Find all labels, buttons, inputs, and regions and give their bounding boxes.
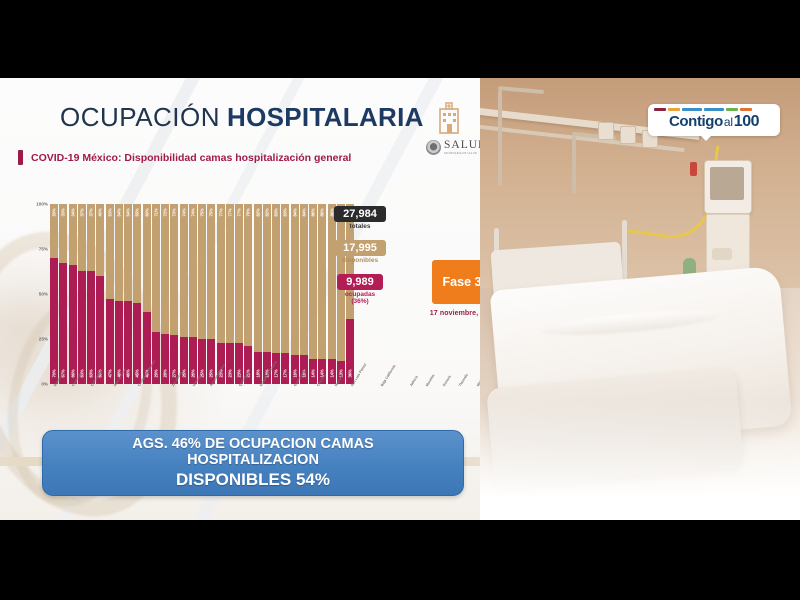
bar-column[interactable]: 82%18% bbox=[263, 204, 271, 384]
bar-value-label-disponibilidad: 73% bbox=[172, 208, 177, 216]
title-bold: HOSPITALARIA bbox=[227, 102, 424, 133]
phase-date: 17 noviembre, 2020 bbox=[426, 310, 480, 317]
bar-value-label-ocupacion: 63% bbox=[89, 369, 94, 377]
bar-segment-disponibilidad: 60% bbox=[143, 204, 151, 312]
bar-value-label-disponibilidad: 79% bbox=[246, 208, 251, 216]
bar-segment-disponibilidad: 71% bbox=[152, 204, 160, 332]
bar-value-label-disponibilidad: 83% bbox=[274, 208, 279, 216]
photo-wall-outlet-2 bbox=[620, 126, 636, 144]
bar-segment-disponibilidad: 84% bbox=[291, 204, 299, 355]
bar-value-label-ocupacion: 36% bbox=[348, 369, 353, 377]
page-title: OCUPACIÓN HOSPITALARIA bbox=[60, 100, 464, 134]
banner-line-2: HOSPITALIZACION bbox=[187, 452, 319, 468]
bar-column[interactable]: 60%40% bbox=[143, 204, 151, 384]
national-seal-icon bbox=[426, 140, 441, 155]
logo-stripe bbox=[668, 108, 680, 111]
logo-stripe bbox=[740, 108, 752, 111]
bar-column[interactable]: 33%67% bbox=[59, 204, 67, 384]
content-band: OCUPACIÓN HOSPITALARIA bbox=[0, 78, 800, 520]
slide-panel: OCUPACIÓN HOSPITALARIA bbox=[0, 78, 480, 520]
callout-caption: disponibles bbox=[318, 257, 402, 265]
bar-value-label-disponibilidad: 37% bbox=[89, 208, 94, 216]
callout-box: 9,989ocupadas (36%) bbox=[318, 272, 402, 307]
logo-text: Contigo al 100 bbox=[654, 113, 774, 131]
logo-part-1: Contigo bbox=[669, 113, 723, 130]
bar-segment-disponibilidad: 73% bbox=[170, 204, 178, 335]
hospital-building-icon bbox=[434, 100, 464, 134]
bar-value-label-disponibilidad: 33% bbox=[61, 208, 66, 216]
bar-segment-disponibilidad: 79% bbox=[244, 204, 252, 346]
bar-value-label-disponibilidad: 74% bbox=[190, 208, 195, 216]
logo-stripe bbox=[726, 108, 738, 111]
bar-value-label-disponibilidad: 34% bbox=[70, 208, 75, 216]
chart-subtitle-wrap: COVID-19 México: Disponibilidad camas ho… bbox=[18, 150, 378, 165]
bar-value-label-ocupacion: 26% bbox=[190, 369, 195, 377]
bar-segment-disponibilidad: 55% bbox=[133, 204, 141, 303]
bar-segment-disponibilidad: 77% bbox=[226, 204, 234, 343]
bar-value-label-disponibilidad: 71% bbox=[153, 208, 158, 216]
x-axis-labels: DurangoCoahuilaChihuahuaNuevo LeónCiudad… bbox=[50, 385, 354, 415]
bar-column[interactable]: 74%26% bbox=[189, 204, 197, 384]
bar-value-label-disponibilidad: 55% bbox=[135, 208, 140, 216]
callout-box: 27,984totales bbox=[318, 204, 402, 231]
bar-value-label-disponibilidad: 82% bbox=[264, 208, 269, 216]
bar-segment-disponibilidad: 82% bbox=[254, 204, 262, 352]
bar-segment-disponibilidad: 33% bbox=[59, 204, 67, 263]
bar-value-label-disponibilidad: 54% bbox=[116, 208, 121, 216]
bar-value-label-disponibilidad: 84% bbox=[292, 208, 297, 216]
bar-segment-ocupacion: 63% bbox=[78, 271, 86, 384]
bar-value-label-disponibilidad: 82% bbox=[255, 208, 260, 216]
bar-segment-disponibilidad: 54% bbox=[124, 204, 132, 301]
bar-segment-disponibilidad: 37% bbox=[78, 204, 86, 271]
bar-value-label-disponibilidad: 54% bbox=[126, 208, 131, 216]
bar-value-label-disponibilidad: 83% bbox=[283, 208, 288, 216]
bar-segment-disponibilidad: 83% bbox=[281, 204, 289, 353]
bar-segment-disponibilidad: 74% bbox=[189, 204, 197, 337]
callout-value: 27,984 bbox=[334, 206, 386, 222]
bar-segment-disponibilidad: 30% bbox=[50, 204, 58, 258]
bar-segment-disponibilidad: 53% bbox=[106, 204, 114, 299]
callout-caption: totales bbox=[318, 223, 402, 231]
logo-part-2: al bbox=[724, 115, 733, 129]
logo-part-3: 100 bbox=[734, 113, 759, 131]
bar-segment-ocupacion: 63% bbox=[87, 271, 95, 384]
bar-column[interactable]: 71%29% bbox=[152, 204, 160, 384]
salud-name: SALUD bbox=[444, 140, 480, 152]
bar-segment-disponibilidad: 74% bbox=[180, 204, 188, 337]
chart-subtitle: COVID-19 México: Disponibilidad camas ho… bbox=[31, 150, 351, 165]
y-tick-label: 50% bbox=[39, 292, 48, 297]
bar-value-label-disponibilidad: 60% bbox=[144, 208, 149, 216]
bar-column[interactable]: 30%70% bbox=[50, 204, 58, 384]
bar-value-label-disponibilidad: 72% bbox=[163, 208, 168, 216]
bar-value-label-ocupacion: 66% bbox=[70, 369, 75, 377]
bar-column[interactable]: 75%25% bbox=[207, 204, 215, 384]
banner-line-1: AGS. 46% DE OCUPACION CAMAS bbox=[132, 436, 373, 452]
screen: OCUPACIÓN HOSPITALARIA bbox=[0, 0, 800, 600]
bar-value-label-disponibilidad: 30% bbox=[52, 208, 57, 216]
bar-segment-ocupacion: 36% bbox=[346, 319, 354, 384]
callout-value: 17,995 bbox=[334, 240, 386, 256]
bar-segment-ocupacion: 66% bbox=[69, 265, 77, 384]
photo-bottom-fade bbox=[480, 400, 800, 520]
logo-stripe bbox=[704, 108, 724, 111]
phase-badge: Fase 3 bbox=[432, 260, 480, 304]
bar-segment-ocupacion: 67% bbox=[59, 263, 67, 384]
bar-column[interactable]: 40%60% bbox=[96, 204, 104, 384]
bar-column[interactable]: 79%21% bbox=[244, 204, 252, 384]
bar-column[interactable]: 83%17% bbox=[272, 204, 280, 384]
y-tick-label: 25% bbox=[39, 337, 48, 342]
status-banner: AGS. 46% DE OCUPACION CAMAS HOSPITALIZAC… bbox=[42, 430, 464, 496]
bar-value-label-disponibilidad: 75% bbox=[200, 208, 205, 216]
bar-segment-disponibilidad: 77% bbox=[235, 204, 243, 343]
salud-subtitle: SECRETARÍA DE SALUD bbox=[444, 152, 480, 155]
callout-caption: ocupadas (36%) bbox=[318, 291, 402, 307]
bar-segment-ocupacion: 60% bbox=[96, 276, 104, 384]
bar-segment-ocupacion: 45% bbox=[133, 303, 141, 384]
photo-wall-outlet-1 bbox=[598, 122, 614, 140]
bar-column[interactable]: 37%63% bbox=[78, 204, 86, 384]
bar-column[interactable]: 72%28% bbox=[161, 204, 169, 384]
bar-segment-ocupacion: 70% bbox=[50, 258, 58, 384]
bar-column[interactable]: 83%17% bbox=[281, 204, 289, 384]
bar-column[interactable]: 53%47% bbox=[106, 204, 114, 384]
bar-value-label-disponibilidad: 77% bbox=[227, 208, 232, 216]
salud-logo: SALUD SECRETARÍA DE SALUD bbox=[426, 140, 480, 155]
bar-segment-disponibilidad: 54% bbox=[115, 204, 123, 301]
bar-column[interactable]: 75%25% bbox=[198, 204, 206, 384]
photo-equipment-knob bbox=[712, 248, 732, 260]
bar-column[interactable]: 84%16% bbox=[291, 204, 299, 384]
photo-pipe-vertical-left bbox=[498, 90, 502, 186]
bar-segment-disponibilidad: 40% bbox=[96, 204, 104, 276]
bar-column[interactable]: 77%23% bbox=[226, 204, 234, 384]
bar-value-label-disponibilidad: 53% bbox=[107, 208, 112, 216]
bar-segment-disponibilidad: 75% bbox=[198, 204, 206, 339]
hospital-room-photo: Contigo al 100 bbox=[480, 78, 800, 520]
banner-line-3: DISPONIBLES 54% bbox=[176, 470, 330, 490]
bar-value-label-ocupacion: 14% bbox=[329, 369, 334, 377]
y-axis: 0%25%50%75%100% bbox=[24, 204, 50, 384]
callout-value: 9,989 bbox=[337, 274, 383, 290]
bar-value-label-disponibilidad: 40% bbox=[98, 208, 103, 216]
y-tick-label: 100% bbox=[36, 202, 48, 207]
bar-column[interactable]: 82%18% bbox=[254, 204, 262, 384]
bar-column[interactable]: 74%26% bbox=[180, 204, 188, 384]
bar-segment-disponibilidad: 77% bbox=[217, 204, 225, 343]
bar-column[interactable]: 86%14% bbox=[309, 204, 317, 384]
photo-monitor-screen bbox=[710, 167, 744, 200]
chart-plot-area: 0%25%50%75%100% 30%70%33%67%34%66%37%63%… bbox=[24, 204, 354, 416]
bar-value-label-disponibilidad: 75% bbox=[209, 208, 214, 216]
bar-column[interactable]: 54%46% bbox=[124, 204, 132, 384]
bar-column[interactable]: 73%27% bbox=[170, 204, 178, 384]
bar-series-container: 30%70%33%67%34%66%37%63%37%63%40%60%53%4… bbox=[50, 204, 354, 384]
bar-value-label-disponibilidad: 84% bbox=[301, 208, 306, 216]
y-tick-label: 0% bbox=[41, 382, 48, 387]
photo-bed-post-right bbox=[622, 220, 627, 286]
title-regular: OCUPACIÓN bbox=[60, 102, 220, 133]
bar-segment-disponibilidad: 83% bbox=[272, 204, 280, 353]
bar-segment-ocupacion: 47% bbox=[106, 299, 114, 384]
bar-value-label-disponibilidad: 77% bbox=[237, 208, 242, 216]
bar-value-label-disponibilidad: 74% bbox=[181, 208, 186, 216]
bar-column[interactable]: 77%23% bbox=[235, 204, 243, 384]
phase-label: Fase 3 bbox=[443, 275, 480, 289]
contigo-al-100-logo: Contigo al 100 bbox=[648, 104, 780, 136]
bar-column[interactable]: 77%23% bbox=[217, 204, 225, 384]
bar-segment-disponibilidad: 37% bbox=[87, 204, 95, 271]
bar-value-label-disponibilidad: 77% bbox=[218, 208, 223, 216]
callout-box: 17,995disponibles bbox=[318, 238, 402, 265]
subtitle-accent-bar bbox=[18, 150, 23, 165]
bar-column[interactable]: 37%63% bbox=[87, 204, 95, 384]
bar-segment-disponibilidad: 86% bbox=[309, 204, 317, 359]
bar-column[interactable]: 55%45% bbox=[133, 204, 141, 384]
callout-group: 27,984totales17,995disponibles9,989ocupa… bbox=[318, 204, 402, 313]
logo-stripe bbox=[654, 108, 666, 111]
bar-segment-disponibilidad: 75% bbox=[207, 204, 215, 339]
bar-column[interactable]: 54%46% bbox=[115, 204, 123, 384]
bar-segment-disponibilidad: 82% bbox=[263, 204, 271, 352]
bar-value-label-disponibilidad: 37% bbox=[79, 208, 84, 216]
bar-value-label-ocupacion: 70% bbox=[52, 369, 57, 377]
bar-column[interactable]: 34%66% bbox=[69, 204, 77, 384]
bar-segment-disponibilidad: 34% bbox=[69, 204, 77, 265]
bar-segment-disponibilidad: 84% bbox=[300, 204, 308, 355]
bar-segment-disponibilidad: 72% bbox=[161, 204, 169, 334]
y-tick-label: 75% bbox=[39, 247, 48, 252]
photo-emergency-switch-icon bbox=[690, 162, 697, 176]
bar-column[interactable]: 84%16% bbox=[300, 204, 308, 384]
photo-pipe-vertical-mid bbox=[572, 136, 576, 194]
logo-speech-tail bbox=[700, 135, 712, 141]
photo-patient-monitor bbox=[704, 160, 752, 214]
bar-value-label-disponibilidad: 86% bbox=[311, 208, 316, 216]
logo-stripes bbox=[654, 108, 774, 111]
logo-stripe bbox=[682, 108, 702, 111]
